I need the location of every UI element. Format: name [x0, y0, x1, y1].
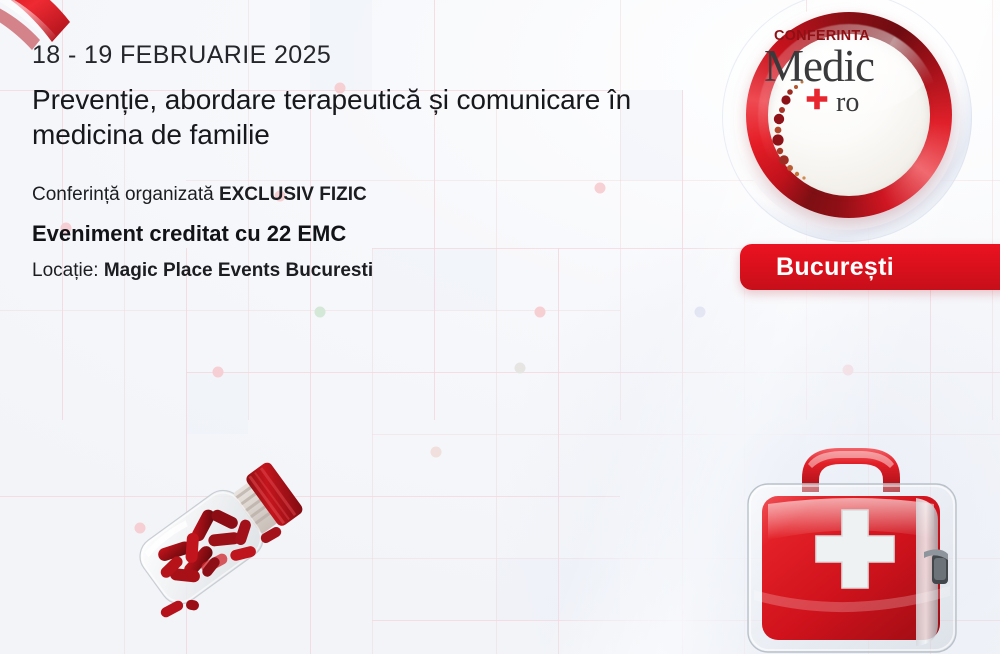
- location-label: Locație:: [32, 260, 104, 281]
- grid-node: [315, 307, 326, 318]
- grid-line-vertical: [372, 248, 373, 654]
- page-title: Prevenție, abordare terapeutică și comun…: [32, 82, 677, 154]
- logo-suffix: ro: [836, 87, 859, 119]
- pill-bottle-illustration: [108, 454, 348, 644]
- event-date: 18 - 19 FEBRUARIE 2025: [32, 42, 692, 70]
- grid-node: [535, 307, 546, 318]
- first-aid-kit-illustration: [710, 420, 982, 654]
- city-badge-label: București: [740, 253, 894, 282]
- logo-main-word: Medic: [764, 40, 874, 92]
- location-value: Magic Place Events Bucuresti: [104, 260, 373, 281]
- grid-block: [186, 372, 248, 434]
- location-line: Locație: Magic Place Events Bucuresti: [32, 259, 692, 284]
- city-badge: București: [740, 244, 1000, 290]
- organized-emphasis: EXCLUSIV FIZIC: [219, 184, 367, 205]
- grid-node: [213, 367, 224, 378]
- medical-cross-icon: [802, 86, 832, 116]
- grid-node: [515, 363, 526, 374]
- grid-node: [431, 447, 442, 458]
- grid-line-vertical: [558, 248, 559, 654]
- organized-line: Conferință organizată EXCLUSIV FIZIC: [32, 183, 692, 208]
- grid-node: [843, 365, 854, 376]
- conference-banner: 18 - 19 FEBRUARIE 2025 Prevenție, aborda…: [0, 0, 1000, 654]
- grid-block: [496, 558, 620, 620]
- conference-logo: CONFERINTA Medic ro București: [716, 0, 992, 314]
- grid-line-horizontal: [0, 310, 620, 311]
- credits-line: Eveniment creditat cu 22 EMC: [32, 220, 692, 249]
- grid-node: [695, 307, 706, 318]
- grid-line-horizontal: [186, 372, 1000, 373]
- organized-prefix: Conferință organizată: [32, 184, 219, 205]
- grid-line-vertical: [992, 0, 993, 420]
- banner-copy: 18 - 19 FEBRUARIE 2025 Prevenție, aborda…: [32, 42, 692, 284]
